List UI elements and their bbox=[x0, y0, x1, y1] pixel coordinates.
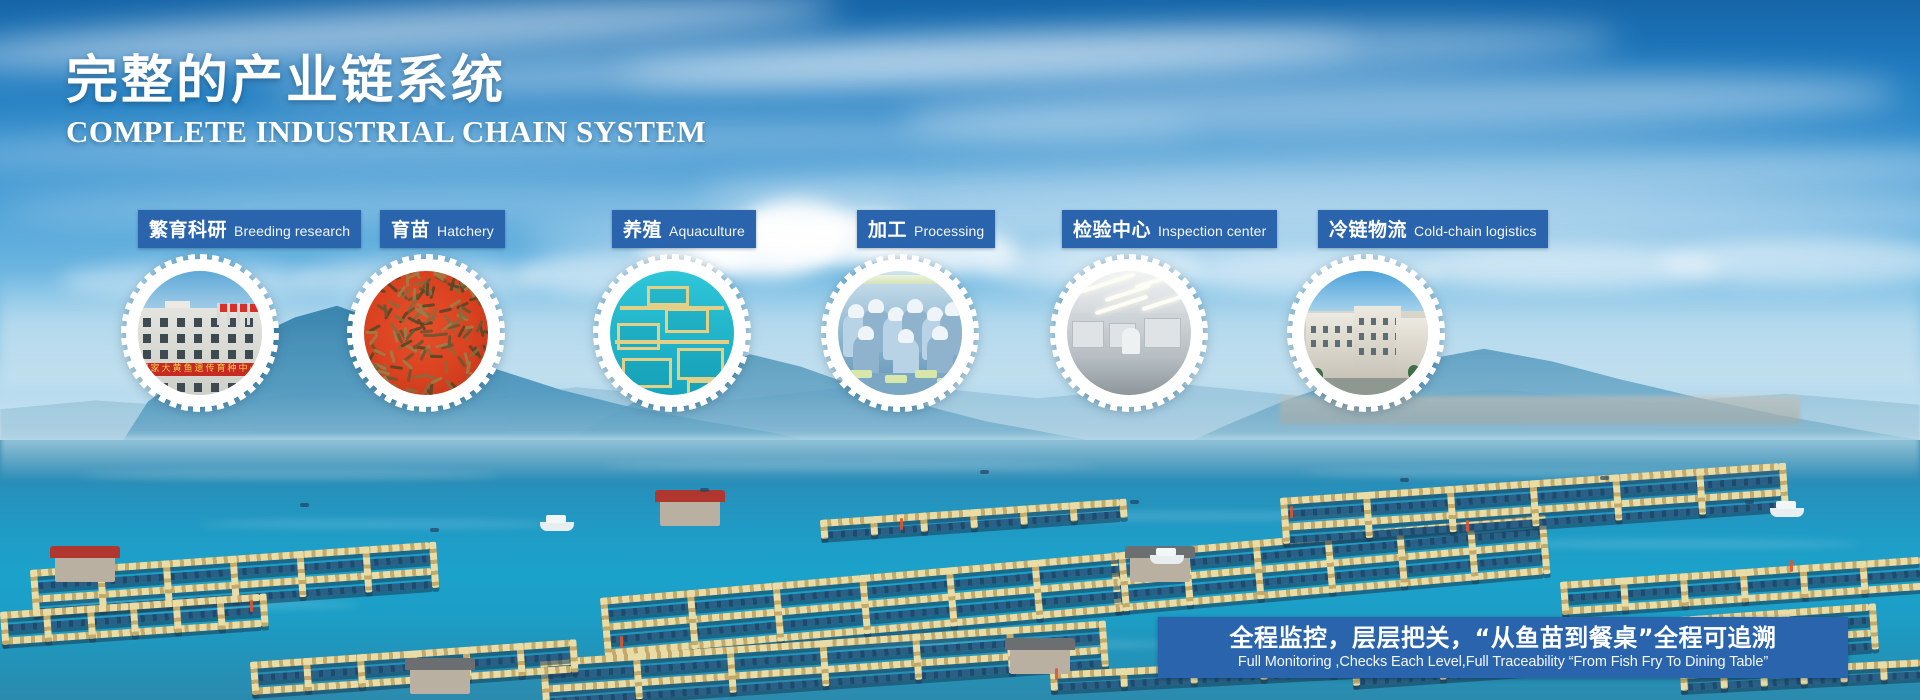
step-label-1[interactable]: 繁育科研 Breeding research bbox=[138, 210, 361, 248]
step-label-en: Inspection center bbox=[1158, 223, 1266, 239]
institute-banner-text: 国家大黄鱼遗传育种中心 bbox=[138, 363, 262, 376]
laboratory-photo bbox=[1067, 271, 1191, 395]
industrial-chain-steps: 繁育科研 Breeding research 国家大黄鱼遗传育种中心 育苗 Ha… bbox=[0, 0, 1920, 700]
step-label-cn: 育苗 bbox=[391, 215, 430, 242]
step-label-cn: 加工 bbox=[868, 215, 907, 242]
step-label-en: Aquaculture bbox=[669, 223, 745, 239]
step-circle-1[interactable]: 国家大黄鱼遗传育种中心 bbox=[126, 259, 274, 407]
step-label-en: Hatchery bbox=[437, 223, 494, 239]
cold-storage-warehouse-photo bbox=[1304, 271, 1428, 395]
traceability-banner-en: Full Monitoring ,Checks Each Level,Full … bbox=[1238, 654, 1768, 670]
institute-building-photo: 国家大黄鱼遗传育种中心 bbox=[138, 271, 262, 395]
processing-workers-photo bbox=[838, 271, 962, 395]
traceability-banner: 全程监控，层层把关，“从鱼苗到餐桌”全程可追溯 Full Monitoring … bbox=[1158, 617, 1848, 678]
fish-fry-tub-photo bbox=[364, 271, 488, 395]
step-label-cn: 养殖 bbox=[623, 215, 662, 242]
step-label-5[interactable]: 检验中心 Inspection center bbox=[1062, 210, 1277, 248]
step-photo-5 bbox=[1067, 271, 1191, 395]
traceability-banner-cn: 全程监控，层层把关，“从鱼苗到餐桌”全程可追溯 bbox=[1229, 625, 1776, 651]
step-label-3[interactable]: 养殖 Aquaculture bbox=[612, 210, 756, 248]
step-label-4[interactable]: 加工 Processing bbox=[857, 210, 995, 248]
step-label-en: Cold-chain logistics bbox=[1414, 223, 1537, 239]
step-circle-4[interactable] bbox=[826, 259, 974, 407]
step-label-2[interactable]: 育苗 Hatchery bbox=[380, 210, 505, 248]
step-circle-3[interactable] bbox=[598, 259, 746, 407]
step-photo-1: 国家大黄鱼遗传育种中心 bbox=[138, 271, 262, 395]
step-label-cn: 检验中心 bbox=[1073, 215, 1151, 242]
step-photo-3 bbox=[610, 271, 734, 395]
step-circle-2[interactable] bbox=[352, 259, 500, 407]
step-label-cn: 繁育科研 bbox=[149, 215, 227, 242]
step-photo-4 bbox=[838, 271, 962, 395]
industrial-chain-banner: 完整的产业链系统 COMPLETE INDUSTRIAL CHAIN SYSTE… bbox=[0, 0, 1920, 700]
step-label-6[interactable]: 冷链物流 Cold-chain logistics bbox=[1318, 210, 1548, 248]
step-circle-5[interactable] bbox=[1055, 259, 1203, 407]
step-label-cn: 冷链物流 bbox=[1329, 215, 1407, 242]
step-photo-2 bbox=[364, 271, 488, 395]
aerial-sea-cages-photo bbox=[610, 271, 734, 395]
step-label-en: Breeding research bbox=[234, 223, 350, 239]
step-label-en: Processing bbox=[914, 223, 984, 239]
step-photo-6 bbox=[1304, 271, 1428, 395]
step-circle-6[interactable] bbox=[1292, 259, 1440, 407]
